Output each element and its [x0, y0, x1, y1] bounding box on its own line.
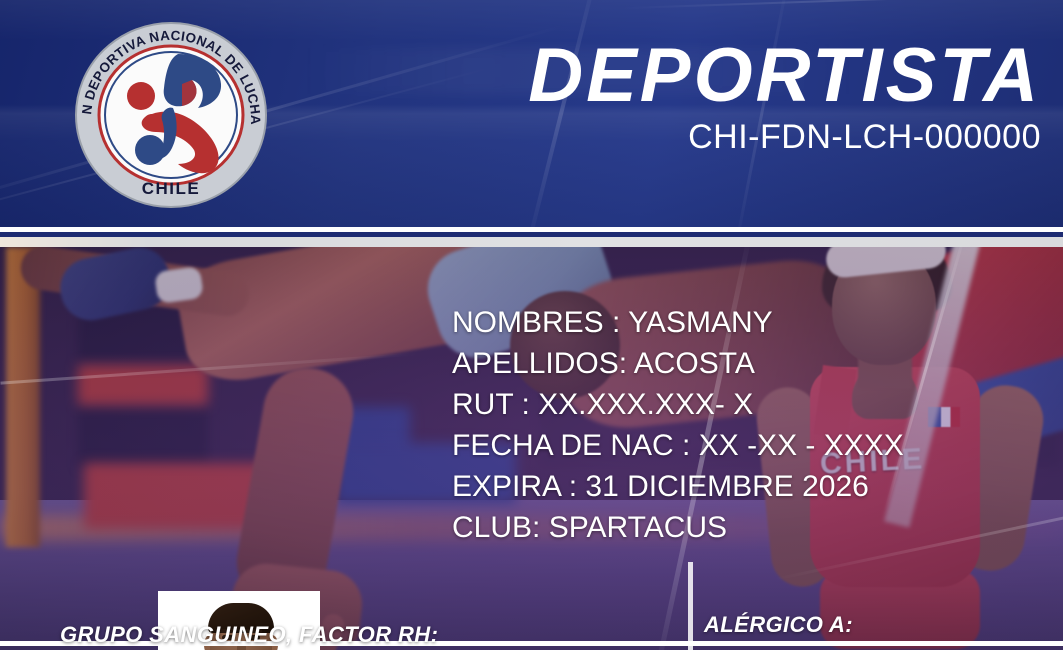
footer-vertical-divider	[688, 562, 693, 650]
card-header: FEDERACIÓN DEPORTIVA NACIONAL DE LUCHA O…	[0, 0, 1063, 227]
field-nombres: NOMBRES : YASMANY	[452, 302, 904, 343]
allergy-label: ALÉRGICO A:	[704, 612, 853, 638]
field-club: CLUB: SPARTACUS	[452, 507, 904, 548]
header-title-block: DEPORTISTA CHI-FDN-LCH-000000	[528, 40, 1041, 157]
athlete-data-fields: NOMBRES : YASMANY APELLIDOS: ACOSTA RUT …	[452, 302, 904, 548]
separator-gray	[0, 237, 1063, 247]
svg-text:CHILE: CHILE	[142, 179, 201, 198]
field-apellidos: APELLIDOS: ACOSTA	[452, 343, 904, 384]
athlete-id-card: FEDERACIÓN DEPORTIVA NACIONAL DE LUCHA O…	[0, 0, 1063, 650]
blood-type-label: GRUPO SANGUINEO, FACTOR RH:	[60, 622, 438, 648]
card-code: CHI-FDN-LCH-000000	[528, 118, 1041, 157]
background-panel	[78, 407, 208, 467]
federation-logo-icon: FEDERACIÓN DEPORTIVA NACIONAL DE LUCHA O…	[74, 22, 268, 208]
field-rut: RUT : XX.XXX.XXX- X	[452, 384, 904, 425]
header-swoosh-icon	[620, 0, 1040, 9]
field-expira: EXPIRA : 31 DICIEMBRE 2026	[452, 466, 904, 507]
page-title: DEPORTISTA	[528, 40, 1041, 112]
background-post	[6, 247, 40, 547]
background-panel	[78, 365, 208, 405]
field-fecha-de-nac: FECHA DE NAC : XX -XX - XXXX	[452, 425, 904, 466]
card-body: CHILE	[0, 247, 1063, 650]
